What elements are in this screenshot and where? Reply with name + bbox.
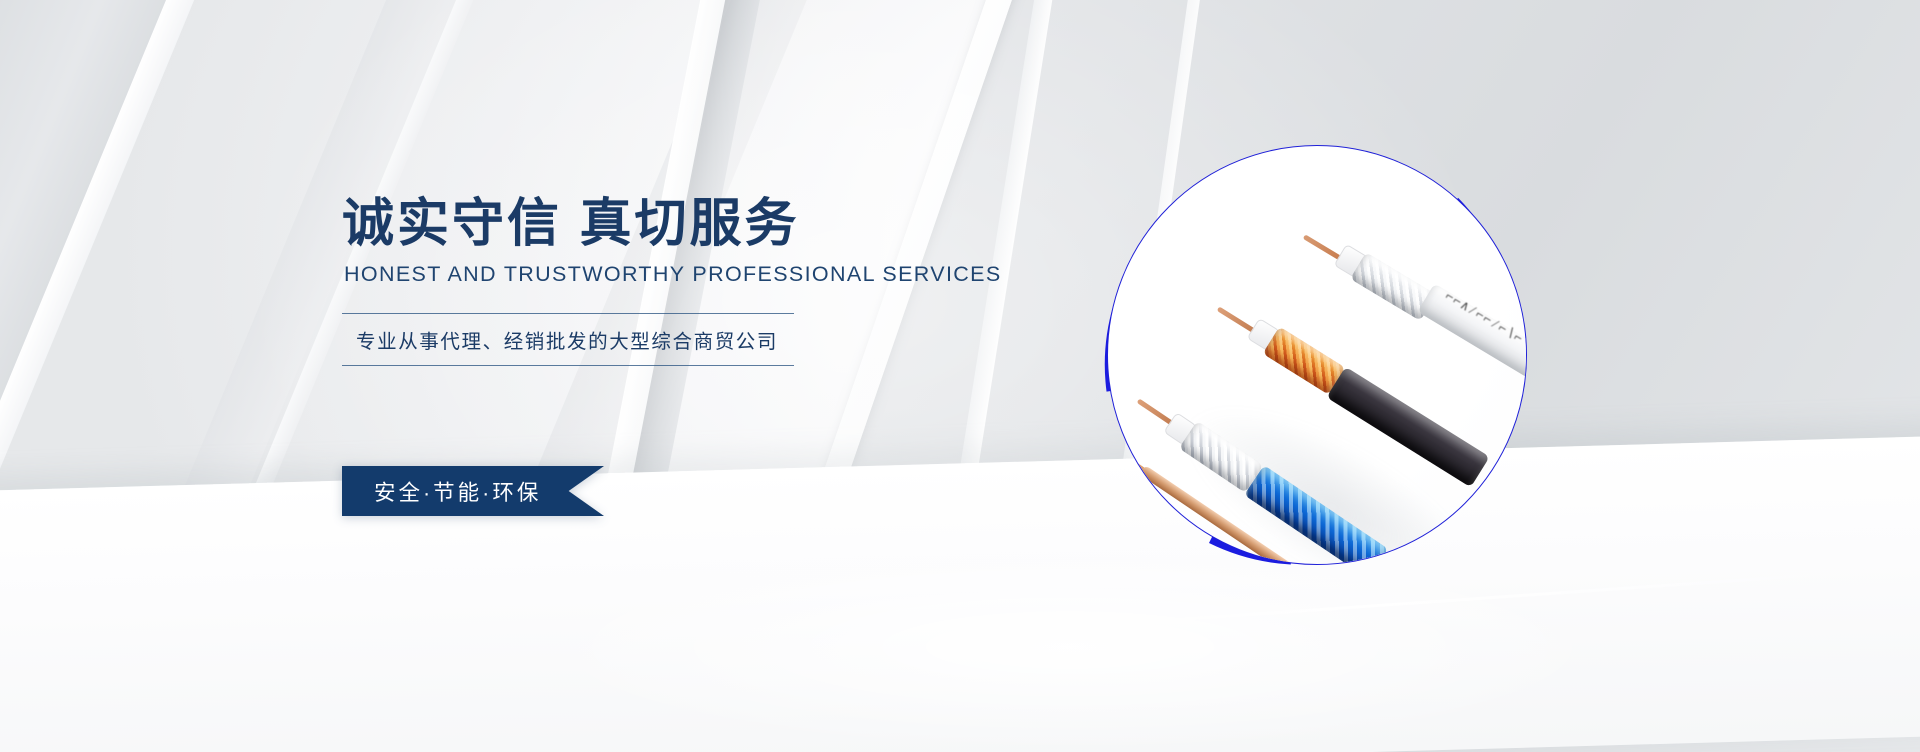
floor-glow — [520, 542, 1620, 752]
background-artwork — [0, 0, 1920, 752]
cable-group: ⌐⌐∧∕⌐⌐∕⌐∖⌐ — [1108, 146, 1526, 564]
hero-description-block: 专业从事代理、经销批发的大型综合商贸公司 — [342, 313, 794, 366]
product-medallion: ⌐⌐∧∕⌐⌐∕⌐∖⌐ — [1107, 145, 1527, 565]
slogan-badge[interactable]: 安全·节能·环保 — [342, 466, 604, 516]
slogan-badge-label: 安全·节能·环保 — [342, 476, 541, 507]
hero-description: 专业从事代理、经销批发的大型综合商贸公司 — [342, 314, 794, 365]
hero-headline: 诚实守信 真切服务 — [342, 196, 862, 252]
divider-top — [342, 313, 794, 314]
hero-copy: 诚实守信 真切服务 HONEST AND TRUSTWORTHY PROFESS… — [342, 196, 862, 366]
product-disc: ⌐⌐∧∕⌐⌐∕⌐∖⌐ — [1107, 145, 1527, 565]
divider-bottom — [342, 365, 794, 366]
hero-banner: 诚实守信 真切服务 HONEST AND TRUSTWORTHY PROFESS… — [0, 0, 1920, 752]
slogan-badge-shape: 安全·节能·环保 — [342, 466, 604, 516]
hero-subheadline: HONEST AND TRUSTWORTHY PROFESSIONAL SERV… — [344, 262, 862, 287]
